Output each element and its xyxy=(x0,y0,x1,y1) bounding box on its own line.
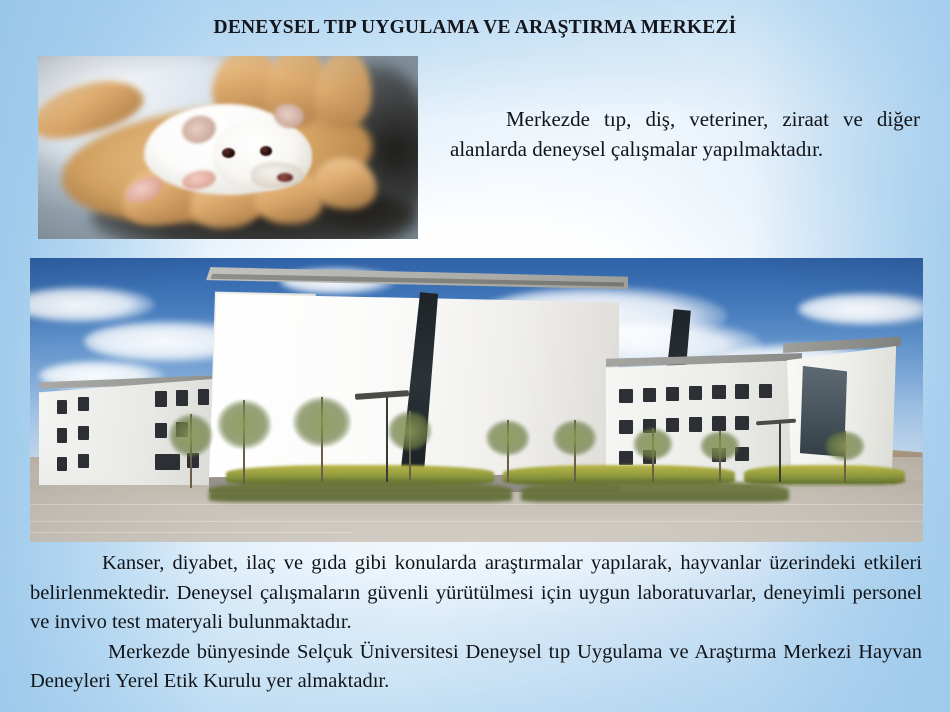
lab-mouse-photo-scene xyxy=(38,56,418,239)
photo-vignette xyxy=(30,258,923,542)
body-paragraph-2: Merkezde bünyesinde Selçuk Üniversitesi … xyxy=(30,638,922,697)
body-paragraph-1: Kanser, diyabet, ilaç ve gıda gibi konul… xyxy=(30,549,922,638)
photo-vignette xyxy=(38,56,418,239)
research-center-building-photo xyxy=(30,258,923,542)
intro-paragraph: Merkezde tıp, diş, veteriner, ziraat ve … xyxy=(450,104,920,164)
slide-title: DENEYSEL TIP UYGULAMA VE ARAŞTIRMA MERKE… xyxy=(0,17,950,39)
lab-mouse-photo xyxy=(38,56,418,239)
body-text-block: Kanser, diyabet, ilaç ve gıda gibi konul… xyxy=(30,549,922,697)
presentation-slide: DENEYSEL TIP UYGULAMA VE ARAŞTIRMA MERKE… xyxy=(0,0,950,712)
building-photo-scene xyxy=(30,258,923,542)
